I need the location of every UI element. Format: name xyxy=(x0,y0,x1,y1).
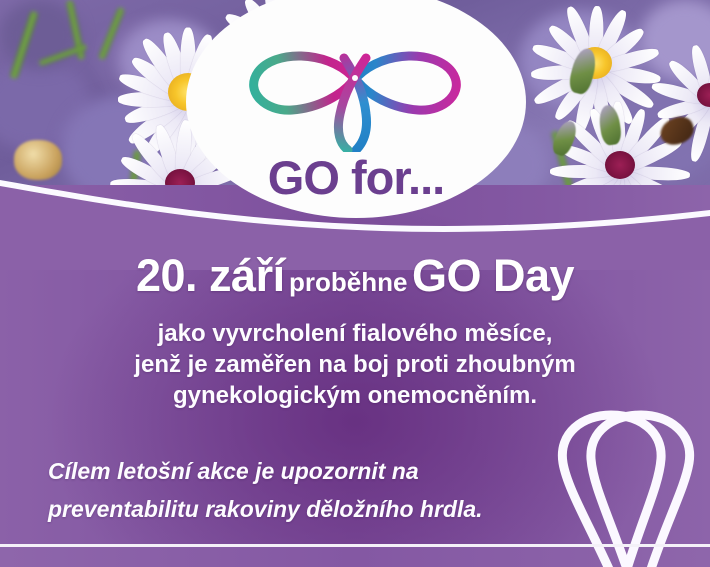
headline-date: 20. září xyxy=(136,250,285,301)
poster: GO for... 20. září proběhne GO Day jako … xyxy=(0,0,710,567)
tagline-text: Cílem letošní akce je upozornit na preve… xyxy=(48,452,568,528)
body-text: jako vyvrcholení fialového měsíce, jenž … xyxy=(0,318,710,411)
brand-text: GO for... xyxy=(186,150,526,206)
headline: 20. září proběhne GO Day xyxy=(0,250,710,302)
headline-event: GO Day xyxy=(412,250,574,301)
body-line: gynekologickým onemocněním. xyxy=(0,380,710,411)
tagline-line: Cílem letošní akce je upozornit na xyxy=(48,452,568,490)
footer-divider-line xyxy=(0,544,710,547)
tagline-line: preventabilitu rakoviny děložního hrdla. xyxy=(48,490,568,528)
headline-verb: proběhne xyxy=(289,267,407,297)
body-line: jako vyvrcholení fialového měsíce, xyxy=(0,318,710,349)
gradient-bow-ribbon-icon xyxy=(240,32,470,152)
body-line: jenž je zaměřen na boj proti zhoubným xyxy=(0,349,710,380)
